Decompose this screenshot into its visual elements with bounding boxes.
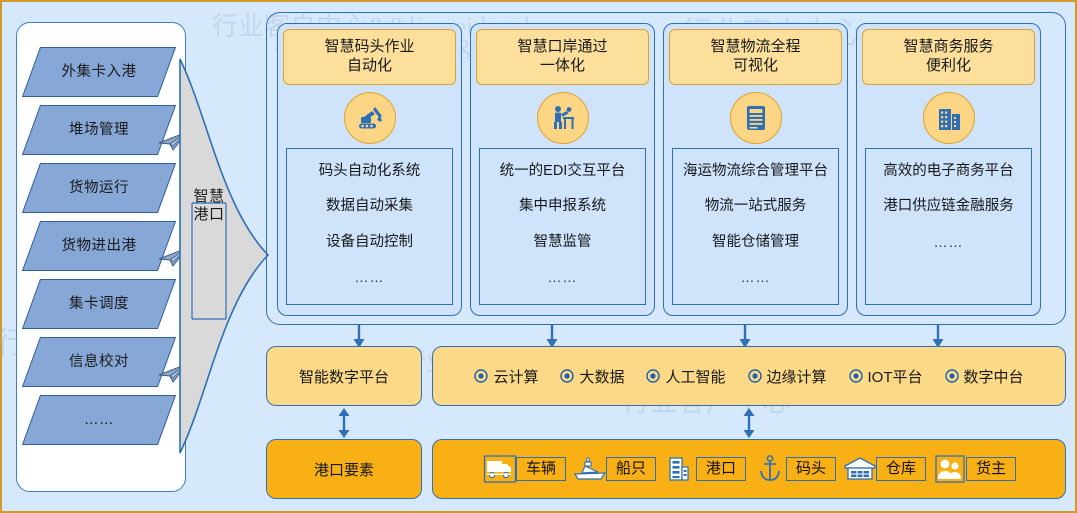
list-item[interactable]: 集卡调度 — [17, 277, 187, 335]
process-label: 集卡调度 — [31, 279, 167, 329]
tech-item-cloud[interactable]: 云计算 — [463, 366, 549, 387]
card-item: …… — [287, 269, 452, 286]
buildings-icon — [923, 92, 975, 144]
card-title: 智慧口岸通过一体化 — [476, 29, 649, 85]
arrow-card4-down — [930, 324, 946, 348]
list-item[interactable]: 外集卡入港 — [17, 45, 187, 103]
process-label: 货物运行 — [31, 163, 167, 213]
process-label: 堆场管理 — [31, 105, 167, 155]
card-item: …… — [480, 269, 645, 286]
card-logistics-visibility[interactable]: 智慧物流全程可视化 海运物流综合管理平台 物流一站式服务 智能仓储管理 …… — [663, 23, 848, 316]
list-item[interactable]: 信息校对 — [17, 335, 187, 393]
arrow-card2-down — [544, 324, 560, 348]
anchor-icon — [752, 452, 788, 486]
card-item: 港口供应链金融服务 — [866, 198, 1031, 215]
entity-terminal[interactable]: 码头 — [752, 452, 836, 486]
card-item: 海运物流综合管理平台 — [673, 163, 838, 180]
card-business-service[interactable]: 智慧商务服务便利化 — [856, 23, 1041, 316]
tech-label: 云计算 — [493, 366, 538, 387]
radio-bullet-icon — [849, 369, 863, 383]
entity-label: 港口 — [696, 457, 746, 481]
document-clipboard-icon — [730, 92, 782, 144]
tech-label: IOT平台 — [868, 366, 923, 387]
tech-label: 数字中台 — [964, 366, 1024, 387]
card-title: 智慧商务服务便利化 — [862, 29, 1035, 85]
arrow-platform-elements — [336, 408, 352, 438]
diagram-root: 行业客户中心&&liuwei.local 行业客户中心&&刘威 行业客户中心 行… — [0, 0, 1077, 513]
tech-item-bigdata[interactable]: 大数据 — [549, 366, 635, 387]
card-title: 智慧物流全程可视化 — [669, 29, 842, 85]
radio-bullet-icon — [646, 369, 660, 383]
list-item[interactable]: 货物运行 — [17, 161, 187, 219]
tech-capabilities-box[interactable]: 云计算 大数据 人工智能 边缘计算 — [432, 346, 1066, 406]
card-item: 设备自动控制 — [287, 234, 452, 251]
card-items: 码头自动化系统 数据自动采集 设备自动控制 …… — [286, 148, 453, 305]
card-item: 智慧监管 — [480, 234, 645, 251]
list-item[interactable]: …… — [17, 393, 187, 451]
entity-label: 车辆 — [516, 457, 566, 481]
tech-item-iot[interactable]: IOT平台 — [838, 366, 934, 387]
port-building-icon — [662, 452, 698, 486]
card-item: 高效的电子商务平台 — [866, 163, 1031, 180]
ship-icon — [572, 452, 608, 486]
entity-label: 货主 — [966, 457, 1016, 481]
list-item[interactable]: 堆场管理 — [17, 103, 187, 161]
card-items: 高效的电子商务平台 港口供应链金融服务 …… — [865, 148, 1032, 305]
arrow-card3-down — [737, 324, 753, 348]
people-icon — [932, 452, 968, 486]
card-item: 数据自动采集 — [287, 198, 452, 215]
digital-platform-box[interactable]: 智能数字平台 — [266, 346, 422, 406]
card-terminal-automation[interactable]: 智慧码头作业自动化 码头自动化系统 数据自动采集 设备自动控制 …… — [277, 23, 462, 316]
card-items: 统一的EDI交互平台 集中申报系统 智慧监管 …… — [479, 148, 646, 305]
card-item: 物流一站式服务 — [673, 198, 838, 215]
entity-vehicle[interactable]: 车辆 — [482, 452, 566, 486]
radio-bullet-icon — [748, 369, 762, 383]
tech-item-midplatform[interactable]: 数字中台 — [934, 366, 1035, 387]
card-item: 智能仓储管理 — [673, 234, 838, 251]
process-label: 信息校对 — [31, 337, 167, 387]
entity-cargo-owner[interactable]: 货主 — [932, 452, 1016, 486]
workstation-person-icon — [537, 92, 589, 144]
truck-icon — [482, 452, 518, 486]
digital-platform-label: 智能数字平台 — [299, 366, 389, 387]
process-list: 外集卡入港 堆场管理 货物运行 货物进出港 — [17, 45, 187, 451]
card-items: 海运物流综合管理平台 物流一站式服务 智能仓储管理 …… — [672, 148, 839, 305]
entity-label: 码头 — [786, 457, 836, 481]
radio-bullet-icon — [474, 369, 488, 383]
card-item: 码头自动化系统 — [287, 163, 452, 180]
card-port-clearance[interactable]: 智慧口岸通过一体化 统一的EDI交互平台 集中申报系统 智慧监 — [470, 23, 655, 316]
warehouse-icon — [842, 452, 878, 486]
card-item: 集中申报系统 — [480, 198, 645, 215]
process-panel: 外集卡入港 堆场管理 货物运行 货物进出港 — [16, 22, 186, 492]
process-label: 外集卡入港 — [31, 47, 167, 97]
port-elements-box[interactable]: 港口要素 — [266, 439, 422, 499]
arrow-card1-down — [351, 324, 367, 348]
entity-label: 仓库 — [876, 457, 926, 481]
tech-label: 大数据 — [579, 366, 624, 387]
entity-warehouse[interactable]: 仓库 — [842, 452, 926, 486]
card-item: 统一的EDI交互平台 — [480, 163, 645, 180]
entity-ship[interactable]: 船只 — [572, 452, 656, 486]
chevron-connector — [178, 57, 270, 457]
card-item: …… — [673, 269, 838, 286]
tech-label: 人工智能 — [665, 366, 725, 387]
radio-bullet-icon — [945, 369, 959, 383]
tech-item-ai[interactable]: 人工智能 — [635, 366, 736, 387]
tech-label: 边缘计算 — [767, 366, 827, 387]
entity-port[interactable]: 港口 — [662, 452, 746, 486]
tech-item-edge[interactable]: 边缘计算 — [737, 366, 838, 387]
excavator-icon — [344, 92, 396, 144]
process-label: 货物进出港 — [31, 221, 167, 271]
list-item[interactable]: 货物进出港 — [17, 219, 187, 277]
port-elements-label: 港口要素 — [314, 459, 374, 480]
arrow-tech-entities — [741, 408, 757, 438]
card-title: 智慧码头作业自动化 — [283, 29, 456, 85]
connector-label-text: 智慧港口 — [193, 188, 224, 223]
card-item: …… — [866, 234, 1031, 251]
process-label: …… — [31, 395, 167, 445]
connector-label: 智慧港口 — [192, 188, 226, 225]
entities-box[interactable]: 车辆 船只 — [432, 439, 1066, 499]
capability-group: 智慧码头作业自动化 码头自动化系统 数据自动采集 设备自动控制 …… — [266, 12, 1066, 325]
entity-label: 船只 — [606, 457, 656, 481]
radio-bullet-icon — [560, 369, 574, 383]
